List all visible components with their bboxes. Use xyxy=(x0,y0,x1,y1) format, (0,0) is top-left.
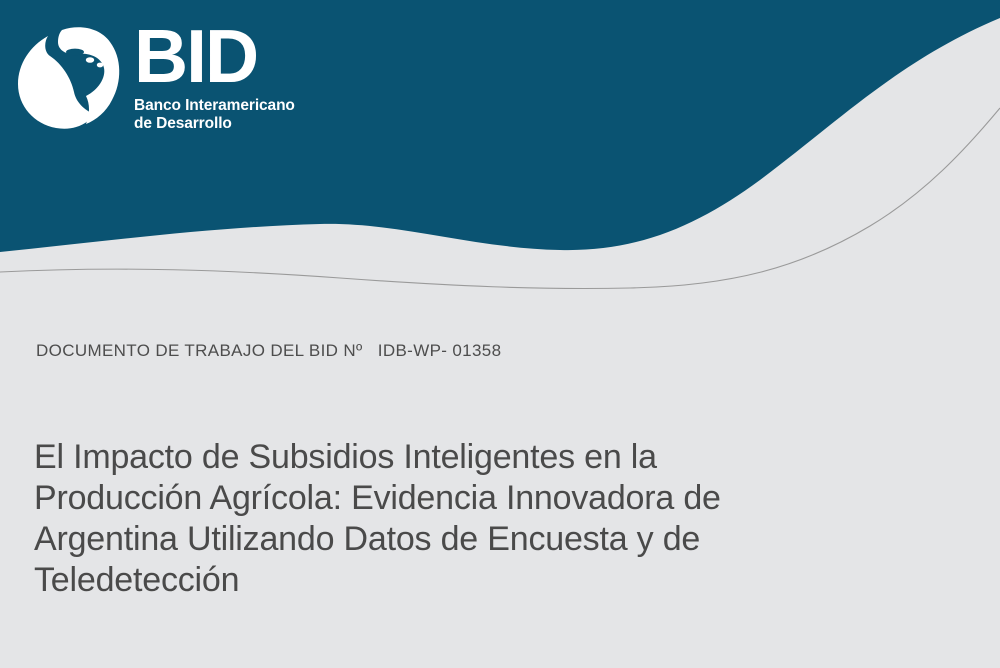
page-title-line-2: Producción Agrícola: Evidencia Innovador… xyxy=(34,479,721,517)
idb-wordmark-block: BID Banco Interamericano de Desarrollo xyxy=(134,20,295,133)
idb-globe-icon xyxy=(14,20,126,132)
document-series-number: DOCUMENTO DE TRABAJO DEL BID Nº IDB-WP- … xyxy=(36,341,501,361)
page-title-line-3: Argentina Utilizando Datos de Encuesta y… xyxy=(34,520,700,558)
thin-curve-line-icon xyxy=(0,108,1000,289)
idb-logo-lockup: BID Banco Interamericano de Desarrollo xyxy=(14,20,295,133)
page-title-line-4: Teledetección xyxy=(34,561,239,599)
document-cover-page: BID Banco Interamericano de Desarrollo D… xyxy=(0,0,1000,668)
page-title: El Impacto de Subsidios Inteligentes en … xyxy=(34,437,914,601)
idb-tagline: Banco Interamericano de Desarrollo xyxy=(134,97,295,133)
idb-wordmark: BID xyxy=(134,22,295,91)
page-title-line-1: El Impacto de Subsidios Inteligentes en … xyxy=(34,438,657,476)
